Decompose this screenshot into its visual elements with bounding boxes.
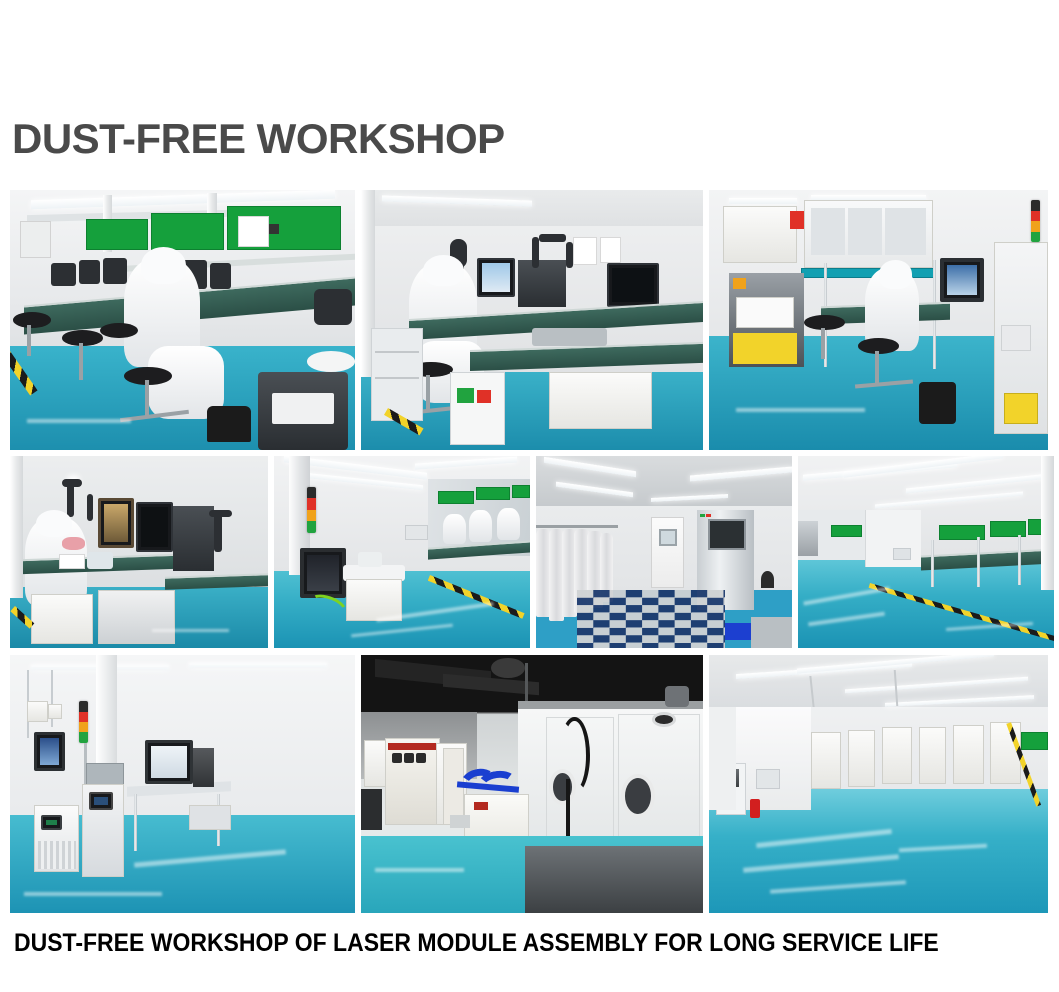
photo-image [274,456,530,648]
page-title: DUST-FREE WORKSHOP [12,118,505,160]
photo-gowning-room-air-shower[interactable] [536,456,792,648]
photo-image [10,655,355,913]
photo-image [709,190,1048,450]
photo-gallery [0,190,1059,913]
gallery-row-1 [0,190,1059,450]
dust-free-workshop-page: DUST-FREE WORKSHOP [0,0,1059,992]
photo-image [709,655,1048,913]
photo-image [361,655,703,913]
photo-cleanroom-overview-hall[interactable] [709,655,1048,913]
photo-image [361,190,703,450]
photo-image [798,456,1054,648]
gallery-row-2 [0,456,1059,648]
photo-image [536,456,792,648]
gallery-caption: DUST-FREE WORKSHOP OF LASER MODULE ASSEM… [14,930,939,958]
photo-laser-module-workstation[interactable] [709,190,1048,450]
gallery-row-3 [0,655,1059,913]
photo-equipment-utility-room[interactable] [361,655,703,913]
photo-die-bonding-microscope[interactable] [10,456,268,648]
photo-laser-welding-cell[interactable] [10,655,355,913]
photo-optical-test-station[interactable] [361,190,703,450]
photo-image [10,190,355,450]
photo-cleanroom-corridor-hmi[interactable] [274,456,530,648]
photo-main-production-hall[interactable] [798,456,1054,648]
photo-microscope-assembly-line[interactable] [10,190,355,450]
photo-image [10,456,268,648]
